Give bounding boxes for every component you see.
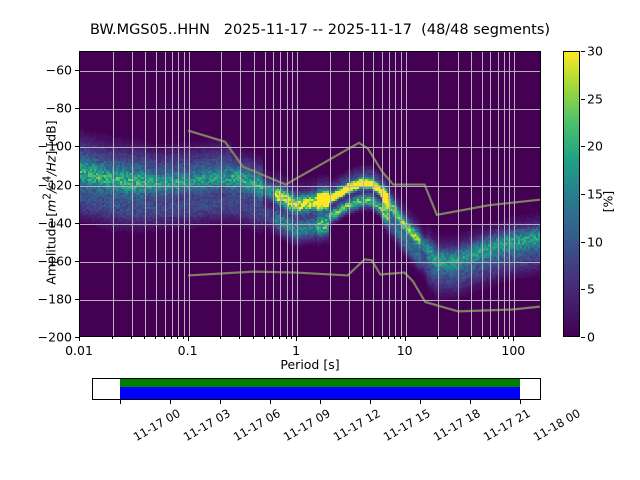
gridline-vertical xyxy=(458,52,459,336)
gridline-vertical xyxy=(165,52,166,336)
gridline-vertical xyxy=(504,52,505,336)
colorbar-tick xyxy=(581,289,585,290)
gridline-vertical xyxy=(471,52,472,336)
time-tick xyxy=(320,400,321,404)
x-tick-label: 1 xyxy=(292,343,300,358)
gridline-vertical xyxy=(172,52,173,336)
gridline-horizontal xyxy=(80,262,540,263)
y-tick xyxy=(75,70,79,71)
x-tick xyxy=(388,337,389,339)
gridline-vertical xyxy=(509,52,510,336)
x-tick-label: 0.01 xyxy=(65,343,93,358)
x-tick xyxy=(79,337,80,341)
gridline-vertical xyxy=(189,52,190,336)
x-tick xyxy=(286,337,287,339)
colorbar-tick-label: 0 xyxy=(587,330,595,345)
x-tick xyxy=(437,337,438,339)
x-tick xyxy=(291,337,292,339)
time-tick-label: 11-17 21 xyxy=(481,406,533,444)
x-tick xyxy=(144,337,145,339)
y-tick xyxy=(75,261,79,262)
time-tick xyxy=(370,400,371,404)
gridline-vertical xyxy=(292,52,293,336)
x-tick xyxy=(164,337,165,339)
time-tick xyxy=(470,400,471,404)
x-tick xyxy=(381,337,382,339)
page-title: BW.MGS05..HHN 2025-11-17 -- 2025-11-17 (… xyxy=(0,22,640,38)
x-tick xyxy=(177,337,178,339)
colorbar-tick xyxy=(581,51,585,52)
gridline-horizontal xyxy=(80,71,540,72)
time-tick xyxy=(170,400,171,404)
y-axis-title-text: Amplitude [m2/s4/Hz] [dB] xyxy=(44,120,59,284)
time-tick xyxy=(220,400,221,404)
gridline-horizontal xyxy=(80,186,540,187)
y-axis-title: Amplitude [m2/s4/Hz] [dB] xyxy=(41,73,58,333)
gridline-vertical xyxy=(156,52,157,336)
x-tick xyxy=(296,337,297,341)
coverage-axes[interactable] xyxy=(92,378,541,400)
x-tick xyxy=(220,337,221,339)
time-tick-label: 11-17 00 xyxy=(131,406,183,444)
x-tick xyxy=(239,337,240,339)
x-tick xyxy=(508,337,509,339)
colorbar-tick-label: 5 xyxy=(587,282,595,297)
gridline-vertical xyxy=(287,52,288,336)
colorbar-tick-label: 25 xyxy=(587,91,603,106)
x-tick xyxy=(481,337,482,339)
gridline-vertical xyxy=(184,52,185,336)
time-tick xyxy=(270,400,271,404)
x-tick xyxy=(503,337,504,339)
gridline-vertical xyxy=(132,52,133,336)
x-tick-label: 100 xyxy=(501,343,525,358)
colorbar-tick xyxy=(581,146,585,147)
x-tick xyxy=(329,337,330,339)
y-tick xyxy=(75,108,79,109)
colorbar-title: [%] xyxy=(601,122,616,282)
time-tick xyxy=(120,400,121,404)
x-tick xyxy=(112,337,113,339)
gridline-vertical xyxy=(482,52,483,336)
gridline-vertical xyxy=(254,52,255,336)
x-tick xyxy=(400,337,401,339)
gridline-vertical xyxy=(438,52,439,336)
x-tick xyxy=(405,337,406,341)
x-tick xyxy=(171,337,172,339)
x-tick xyxy=(155,337,156,339)
x-axis-title: Period [s] xyxy=(79,357,541,372)
colorbar-tick xyxy=(581,337,585,338)
gridline-vertical xyxy=(363,52,364,336)
x-tick xyxy=(131,337,132,339)
x-tick xyxy=(264,337,265,339)
x-tick xyxy=(457,337,458,339)
x-tick xyxy=(279,337,280,339)
time-tick-label: 11-17 06 xyxy=(231,406,283,444)
colorbar-tick-label: 30 xyxy=(587,44,603,59)
gridline-vertical xyxy=(406,52,407,336)
time-tick-label: 11-17 09 xyxy=(281,406,333,444)
gridline-vertical xyxy=(498,52,499,336)
gridline-vertical xyxy=(145,52,146,336)
x-tick-label: 10 xyxy=(397,343,413,358)
gridline-horizontal xyxy=(80,109,540,110)
gridline-vertical xyxy=(178,52,179,336)
time-tick-label: 11-17 12 xyxy=(331,406,383,444)
colorbar-tick xyxy=(581,194,585,195)
x-tick xyxy=(362,337,363,339)
x-tick xyxy=(253,337,254,339)
x-tick-label: 0.1 xyxy=(178,343,198,358)
gridline-vertical xyxy=(273,52,274,336)
gridline-vertical xyxy=(240,52,241,336)
gridline-vertical xyxy=(330,52,331,336)
gridline-vertical xyxy=(265,52,266,336)
time-tick-label: 11-17 18 xyxy=(431,406,483,444)
colorbar xyxy=(563,51,580,337)
gridline-vertical xyxy=(401,52,402,336)
gridline-vertical xyxy=(490,52,491,336)
x-tick xyxy=(470,337,471,339)
ppsd-plot-axes[interactable] xyxy=(79,51,541,337)
x-tick xyxy=(183,337,184,339)
gridline-horizontal xyxy=(80,224,540,225)
gridline-vertical xyxy=(395,52,396,336)
y-tick xyxy=(75,185,79,186)
x-tick xyxy=(348,337,349,339)
x-tick xyxy=(372,337,373,339)
coverage-bar-green xyxy=(120,379,520,387)
time-tick-label: 11-17 15 xyxy=(381,406,433,444)
gridline-vertical xyxy=(221,52,222,336)
gridline-vertical xyxy=(373,52,374,336)
gridline-vertical xyxy=(113,52,114,336)
x-tick xyxy=(497,337,498,339)
gridline-vertical xyxy=(297,52,298,336)
gridline-vertical xyxy=(389,52,390,336)
y-tick xyxy=(75,223,79,224)
gridline-vertical xyxy=(280,52,281,336)
x-tick xyxy=(272,337,273,339)
time-tick-label: 11-18 00 xyxy=(531,406,583,444)
gridline-vertical xyxy=(349,52,350,336)
coverage-bar-blue xyxy=(120,387,520,399)
y-tick xyxy=(75,337,79,338)
gridline-horizontal xyxy=(80,300,540,301)
time-tick-label: 11-17 03 xyxy=(181,406,233,444)
colorbar-tick xyxy=(581,242,585,243)
x-tick xyxy=(513,337,514,341)
gridline-vertical xyxy=(382,52,383,336)
x-tick xyxy=(188,337,189,341)
x-tick xyxy=(394,337,395,339)
y-tick xyxy=(75,146,79,147)
gridline-vertical xyxy=(514,52,515,336)
colorbar-tick xyxy=(581,99,585,100)
gridline-horizontal xyxy=(80,147,540,148)
time-tick xyxy=(520,400,521,404)
time-tick xyxy=(420,400,421,404)
x-tick xyxy=(489,337,490,339)
y-tick xyxy=(75,299,79,300)
